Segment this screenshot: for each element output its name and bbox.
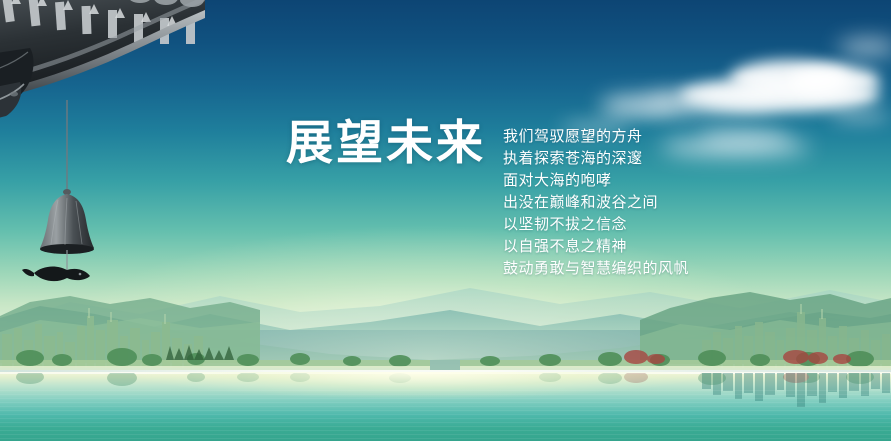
page-title: 展望未来 xyxy=(286,119,486,166)
poem-line: 以自强不息之精神 xyxy=(503,236,733,258)
poem-line: 以坚韧不拔之信念 xyxy=(503,214,733,236)
poem-block: 我们驾驭愿望的方舟 执着探索苍海的深邃 面对大海的咆哮 出没在巅峰和波谷之间 以… xyxy=(503,126,733,280)
hero-banner: 展望未来 我们驾驭愿望的方舟 执着探索苍海的深邃 面对大海的咆哮 出没在巅峰和波… xyxy=(0,0,891,441)
poem-line: 鼓动勇敢与智慧编织的风帆 xyxy=(503,258,733,280)
lake-water xyxy=(0,372,891,441)
poem-line: 我们驾驭愿望的方舟 xyxy=(503,126,733,148)
shoreline-right xyxy=(460,344,891,374)
poem-line: 执着探索苍海的深邃 xyxy=(503,148,733,170)
shoreline-left xyxy=(0,344,430,374)
poem-line: 出没在巅峰和波谷之间 xyxy=(503,192,733,214)
poem-line: 面对大海的咆哮 xyxy=(503,170,733,192)
